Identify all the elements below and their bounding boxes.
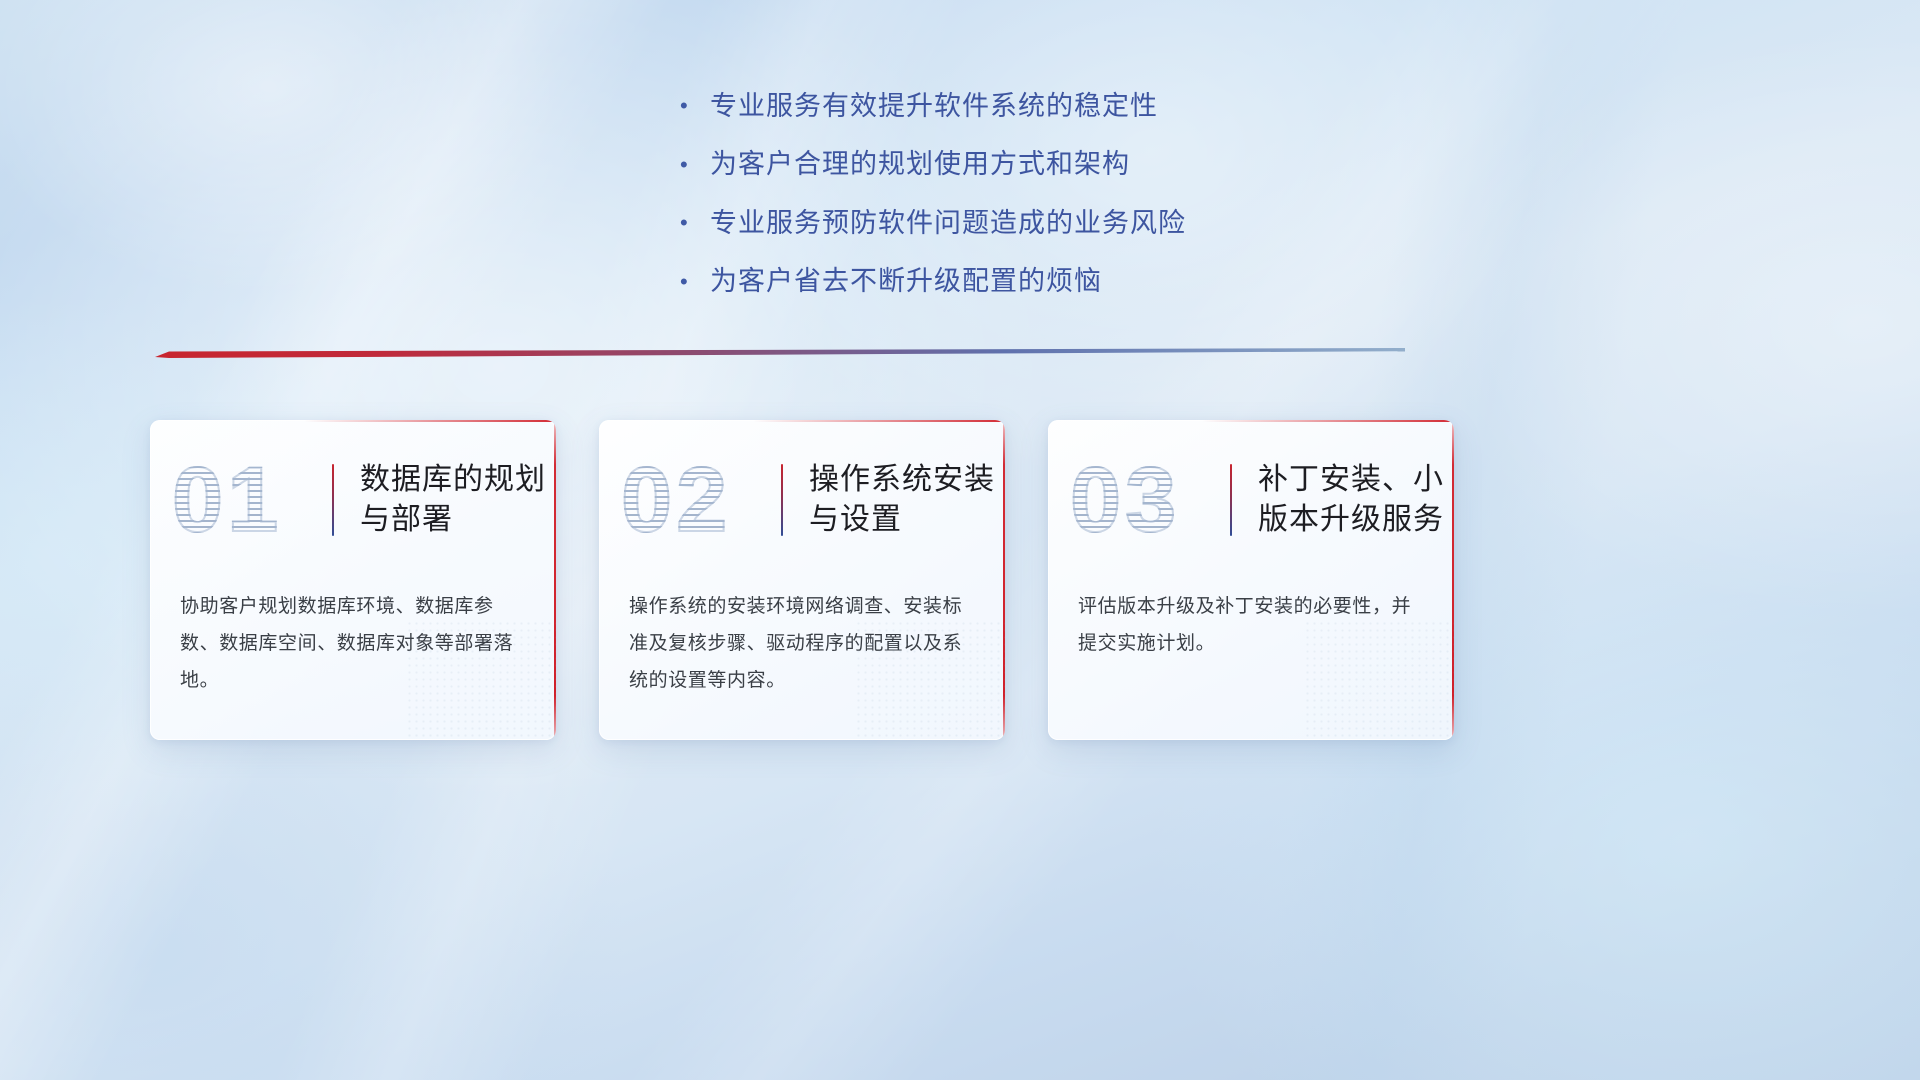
card-title: 数据库的规划与部署 [360,460,556,541]
bullet-text: 为客户省去不断升级配置的烦恼 [710,263,1102,299]
card-header: 01 数据库的规划与部署 [150,420,556,580]
slide-canvas: • 专业服务有效提升软件系统的稳定性 • 为客户合理的规划使用方式和架构 • 专… [0,0,1920,1080]
list-item: • 专业服务预防软件问题造成的业务风险 [680,205,1240,241]
card-number: 02 [621,454,781,546]
service-card[interactable]: 03 补丁安装、小版本升级服务 评估版本升级及补丁安装的必要性，并提交实施计划。 [1048,420,1454,740]
bullet-dot-icon: • [680,95,710,117]
card-header: 02 操作系统安装与设置 [599,420,1005,580]
card-number: 03 [1070,454,1230,546]
service-cards: 01 数据库的规划与部署 协助客户规划数据库环境、数据库参数、数据库空间、数据库… [150,420,1455,740]
card-body-text: 协助客户规划数据库环境、数据库参数、数据库空间、数据库对象等部署落地。 [150,580,556,699]
card-body-text: 操作系统的安装环境网络调查、安装标准及复核步骤、驱动程序的配置以及系统的设置等内… [599,580,1005,699]
list-item: • 为客户合理的规划使用方式和架构 [680,146,1240,182]
list-item: • 为客户省去不断升级配置的烦恼 [680,263,1240,299]
bullet-text: 专业服务预防软件问题造成的业务风险 [710,205,1186,241]
card-header: 03 补丁安装、小版本升级服务 [1048,420,1454,580]
service-card[interactable]: 02 操作系统安装与设置 操作系统的安装环境网络调查、安装标准及复核步骤、驱动程… [599,420,1005,740]
card-body-text: 评估版本升级及补丁安装的必要性，并提交实施计划。 [1048,580,1454,662]
service-card[interactable]: 01 数据库的规划与部署 协助客户规划数据库环境、数据库参数、数据库空间、数据库… [150,420,556,740]
gradient-divider-shape [155,348,1405,360]
bullet-dot-icon: • [680,154,710,176]
benefits-bullet-list: • 专业服务有效提升软件系统的稳定性 • 为客户合理的规划使用方式和架构 • 专… [0,88,1920,300]
bullet-text: 专业服务有效提升软件系统的稳定性 [710,88,1158,124]
card-accent-bar [332,464,334,536]
list-item: • 专业服务有效提升软件系统的稳定性 [680,88,1240,124]
card-title: 操作系统安装与设置 [809,460,1005,541]
section-divider [155,348,1405,360]
card-accent-bar [1230,464,1232,536]
bullet-dot-icon: • [680,271,710,293]
card-title: 补丁安装、小版本升级服务 [1258,460,1454,541]
card-accent-bar [781,464,783,536]
bullet-text: 为客户合理的规划使用方式和架构 [710,146,1130,182]
bullet-dot-icon: • [680,212,710,234]
card-number: 01 [172,454,332,546]
